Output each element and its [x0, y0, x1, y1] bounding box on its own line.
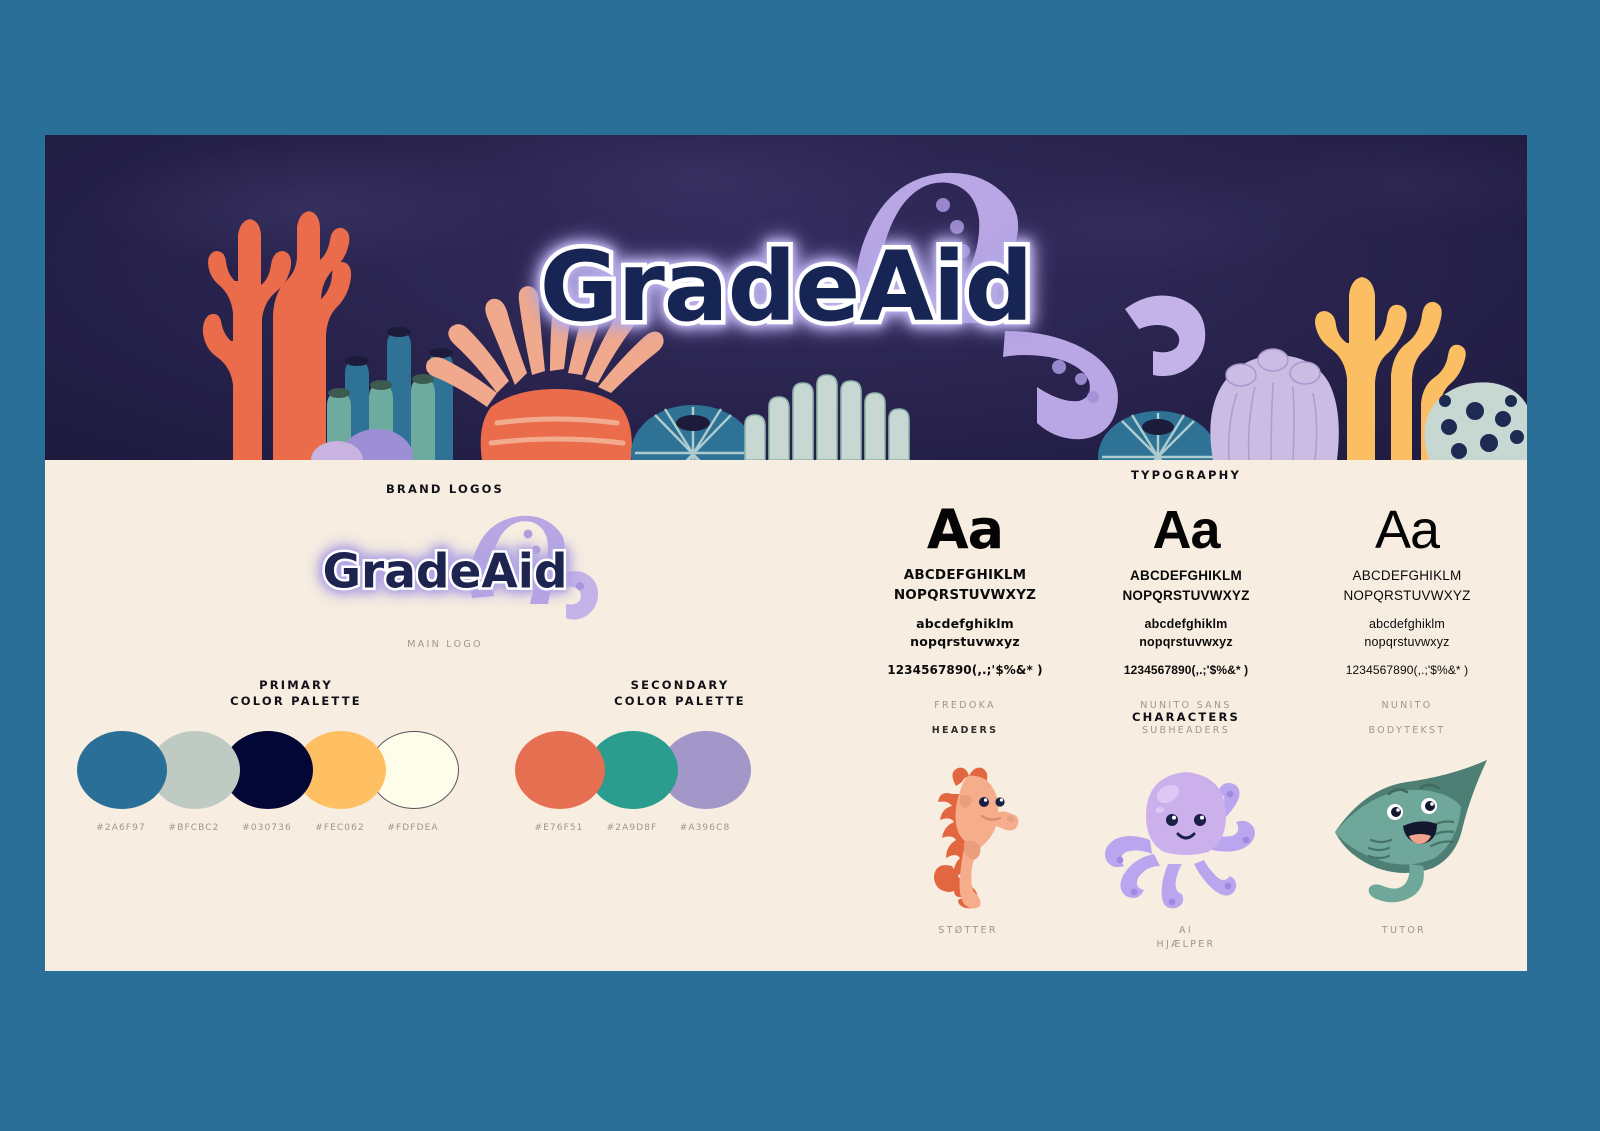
secondary-hex-row: #E76F51 #2A9D8F #A396C8	[515, 823, 845, 839]
character-caption-stingray: TUTOR	[1309, 924, 1499, 950]
characters-section: CHARACTERS	[845, 710, 1527, 952]
typography-title: TYPOGRAPHY	[845, 468, 1527, 484]
main-logo-text: GradeAid	[322, 544, 567, 599]
hero-banner: GradeAid	[45, 135, 1527, 460]
primary-palette-title-line1: PRIMARY	[77, 678, 515, 694]
typography-column-subheaders: Aa ABCDEFGHIKLM NOPQRSTUVWXYZ abcdefghik…	[1080, 502, 1292, 739]
hero-logo-text: GradeAid	[540, 231, 1033, 343]
color-palettes-section: PRIMARY COLOR PALETTE #2A6F97 #	[45, 678, 845, 839]
secondary-palette-title-line1: SECONDARY	[515, 678, 845, 694]
uppercase-line: ABCDEFGHIKLM	[1080, 566, 1292, 586]
color-hex-label: #A396C8	[660, 823, 750, 833]
lowercase-line: abcdefghiklm	[1080, 615, 1292, 633]
uppercase-line: NOPQRSTUVWXYZ	[1301, 586, 1513, 606]
hero-logo: GradeAid	[540, 231, 1033, 343]
font-sample-aa: Aa	[859, 502, 1071, 559]
lowercase-line: abcdefghiklm	[1301, 615, 1513, 633]
primary-palette-title: PRIMARY COLOR PALETTE	[77, 678, 515, 709]
sea-urchin-blue-right	[1098, 411, 1218, 460]
secondary-swatch-row	[515, 731, 845, 809]
secondary-palette: SECONDARY COLOR PALETTE #E76F51 #2A9D8F …	[515, 678, 845, 839]
lowercase-line: nopqrstuvwxyz	[1301, 633, 1513, 651]
secondary-palette-title-line2: COLOR PALETTE	[515, 694, 845, 710]
typography-column-body: Aa ABCDEFGHIKLM NOPQRSTUVWXYZ abcdefghik…	[1301, 502, 1513, 739]
numerals-line: 1234567890(,.;'$%&* )	[1301, 662, 1513, 679]
character-item-seahorse: STØTTER	[873, 740, 1063, 953]
lowercase-line: nopqrstuvwxyz	[859, 633, 1071, 651]
stingray-illustration	[1309, 740, 1499, 910]
color-swatch[interactable]	[515, 731, 605, 809]
main-logo-block: GradeAid	[45, 512, 845, 622]
style-guide-page: GradeAid BRAND LOGOS	[0, 0, 1600, 1131]
primary-palette: PRIMARY COLOR PALETTE #2A6F97 #	[45, 678, 515, 839]
brand-logos-section: BRAND LOGOS GradeAid MAIN LOGO	[45, 482, 845, 652]
left-column: BRAND LOGOS GradeAid MAIN LOGO	[45, 460, 845, 971]
typography-column-headers: Aa ABCDEFGHIKLM NOPQRSTUVWXYZ abcdefghik…	[859, 502, 1071, 739]
typography-columns: Aa ABCDEFGHIKLM NOPQRSTUVWXYZ abcdefghik…	[845, 502, 1527, 739]
uppercase-line: ABCDEFGHIKLM	[1301, 566, 1513, 586]
typography-section: TYPOGRAPHY Aa ABCDEFGHIKLM NOPQRSTUVWXYZ	[845, 468, 1527, 738]
color-hex-label: #FDFDEA	[368, 823, 458, 833]
characters-row: STØTTER	[845, 740, 1527, 953]
character-caption-octopus: AI HJÆLPER	[1091, 924, 1281, 953]
fan-coral-lavender	[1210, 349, 1338, 460]
right-column: TYPOGRAPHY Aa ABCDEFGHIKLM NOPQRSTUVWXYZ	[845, 460, 1527, 971]
font-sample-aa: Aa	[1301, 502, 1513, 559]
uppercase-line: ABCDEFGHIKLM	[859, 566, 1071, 586]
main-logo-caption: MAIN LOGO	[45, 638, 845, 652]
font-glyph-set: ABCDEFGHIKLM NOPQRSTUVWXYZ abcdefghiklm …	[1080, 566, 1292, 679]
uppercase-line: NOPQRSTUVWXYZ	[859, 586, 1071, 606]
character-item-octopus: AI HJÆLPER	[1091, 740, 1281, 953]
style-guide-board: GradeAid BRAND LOGOS	[45, 135, 1527, 971]
secondary-palette-title: SECONDARY COLOR PALETTE	[515, 678, 845, 709]
seahorse-illustration	[873, 740, 1063, 910]
finger-coral-pale	[745, 375, 909, 460]
characters-title: CHARACTERS	[845, 710, 1527, 726]
uppercase-line: NOPQRSTUVWXYZ	[1080, 586, 1292, 606]
color-swatch[interactable]	[77, 731, 167, 809]
font-glyph-set: ABCDEFGHIKLM NOPQRSTUVWXYZ abcdefghiklm …	[1301, 566, 1513, 679]
primary-swatch-row	[77, 731, 515, 809]
octopus-illustration	[1091, 740, 1281, 910]
guide-content: BRAND LOGOS GradeAid MAIN LOGO	[45, 460, 1527, 971]
font-sample-aa: Aa	[1080, 502, 1292, 559]
seahorse-icon	[912, 750, 1024, 910]
character-item-stingray: TUTOR	[1309, 740, 1499, 953]
numerals-line: 1234567890(,.;'$%&* )	[859, 662, 1071, 679]
primary-hex-row: #2A6F97 #BFCBC2 #030736 #FEC062 #FDFDEA	[77, 823, 515, 839]
character-caption-seahorse: STØTTER	[873, 924, 1063, 950]
sea-urchin-blue-left	[631, 405, 755, 460]
octopus-icon	[1098, 754, 1274, 910]
lowercase-line: nopqrstuvwxyz	[1080, 633, 1292, 651]
primary-palette-title-line2: COLOR PALETTE	[77, 694, 515, 710]
numerals-line: 1234567890(,.;'$%&* )	[1080, 662, 1292, 679]
brand-logos-title: BRAND LOGOS	[45, 482, 845, 498]
stingray-icon	[1311, 754, 1497, 910]
font-glyph-set: ABCDEFGHIKLM NOPQRSTUVWXYZ abcdefghiklm …	[859, 566, 1071, 679]
lowercase-line: abcdefghiklm	[859, 615, 1071, 633]
